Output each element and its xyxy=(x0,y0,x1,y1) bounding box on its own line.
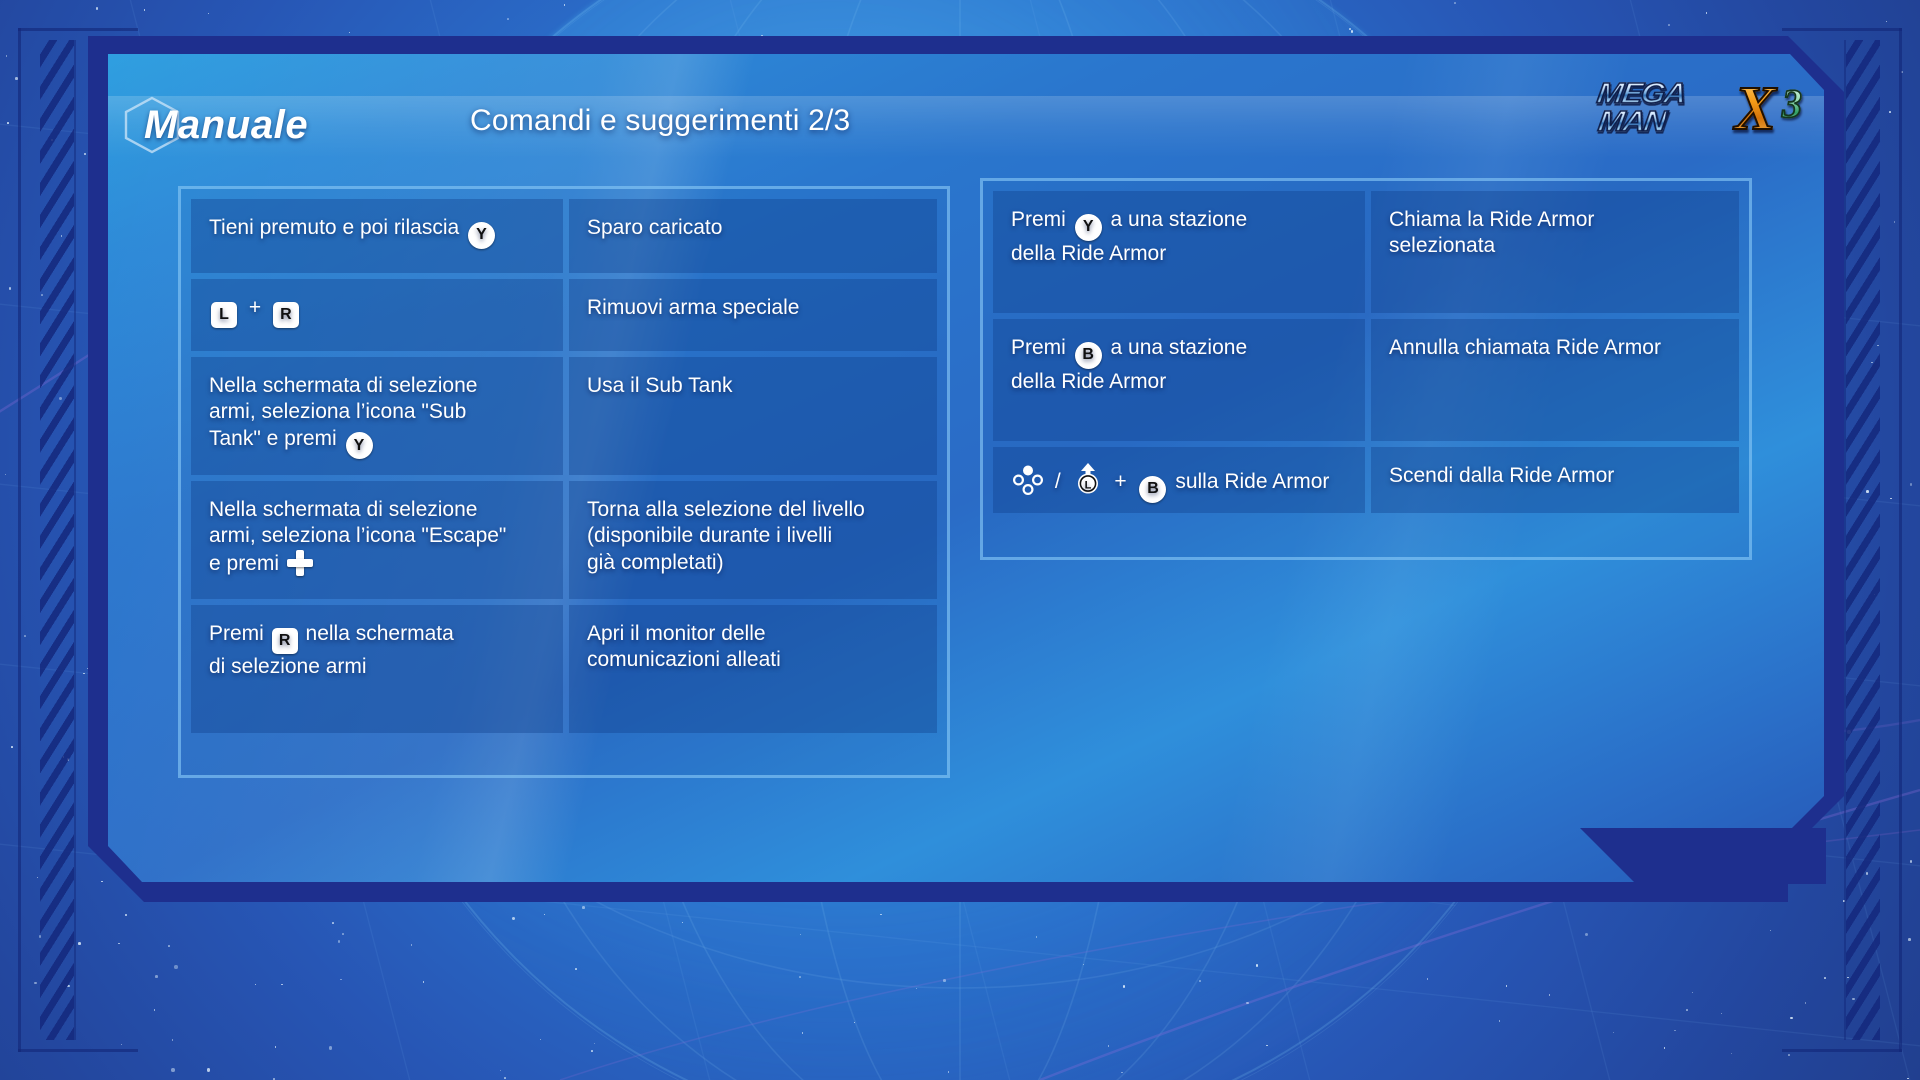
logo-three-text: 3 xyxy=(1782,80,1802,127)
effect-cell: Scendi dalla Ride Armor xyxy=(1371,447,1739,513)
effect-text: Sparo caricato xyxy=(587,215,919,241)
edge-line-topleft xyxy=(18,28,138,31)
effect-text-line2: selezionata xyxy=(1389,233,1721,259)
effect-cell: Usa il Sub Tank xyxy=(569,357,937,475)
header-band xyxy=(108,96,1824,158)
effect-cell: Torna alla selezione del livello (dispon… xyxy=(569,481,937,599)
hatch-edge-right xyxy=(1844,40,1846,1040)
button-y-icon: Y xyxy=(1075,214,1102,241)
command-text-line3: Tank" e premi xyxy=(209,427,337,450)
button-l-icon: L xyxy=(211,302,237,328)
hatch-strip-right xyxy=(1846,40,1880,1040)
table-row: Nella schermata di selezione armi, selez… xyxy=(191,481,937,599)
hatch-edge-left xyxy=(74,40,76,1040)
command-text-line1: Premi xyxy=(209,622,264,645)
command-cell: / L + B sulla Ride Armor xyxy=(993,447,1365,513)
command-cell: Nella schermata di selezione armi, selez… xyxy=(191,481,563,599)
commands-table-right: Premi Y a una stazione della Ride Armor … xyxy=(980,178,1752,560)
mega-man-x3-logo: MEGA MAN X 3 xyxy=(1602,76,1802,150)
effect-text-line2: (disponibile durante i livelli xyxy=(587,523,919,549)
command-text-line1b: a una stazione xyxy=(1111,208,1248,231)
command-text-line2: della Ride Armor xyxy=(1011,369,1347,395)
button-y-icon: Y xyxy=(346,432,373,459)
command-text-line1: Premi xyxy=(1011,208,1066,231)
command-text-line1: Nella schermata di selezione xyxy=(209,373,545,399)
effect-cell: Annulla chiamata Ride Armor xyxy=(1371,319,1739,441)
edge-line-right xyxy=(1899,28,1902,1052)
button-b-icon: B xyxy=(1139,476,1166,503)
command-text-line2: della Ride Armor xyxy=(1011,241,1347,267)
button-y-icon: Y xyxy=(468,222,495,249)
command-cell: Tieni premuto e poi rilascia Y xyxy=(191,199,563,273)
command-text: Tieni premuto e poi rilascia xyxy=(209,216,459,239)
command-cell: L + R xyxy=(191,279,563,351)
table-row: Premi Y a una stazione della Ride Armor … xyxy=(993,191,1739,313)
edge-line-bottomleft xyxy=(18,1049,138,1052)
effect-cell: Apri il monitor delle comunicazioni alle… xyxy=(569,605,937,733)
table-row: Tieni premuto e poi rilascia Y Sparo car… xyxy=(191,199,937,273)
command-text: sulla Ride Armor xyxy=(1175,470,1329,493)
command-text-line1: Nella schermata di selezione xyxy=(209,497,545,523)
command-cell: Premi Y a una stazione della Ride Armor xyxy=(993,191,1365,313)
svg-text:L: L xyxy=(1084,479,1091,491)
left-stick-up-icon: L xyxy=(1073,463,1103,495)
effect-cell: Sparo caricato xyxy=(569,199,937,273)
manual-label: Manuale xyxy=(140,103,308,148)
command-text-line1b: a una stazione xyxy=(1111,336,1248,359)
plus-sign: + xyxy=(249,296,261,319)
command-text-line1: Premi xyxy=(1011,336,1066,359)
command-text-line1b: nella schermata xyxy=(306,622,454,645)
effect-text-line1: Torna alla selezione del livello xyxy=(587,497,919,523)
effect-text: Rimuovi arma speciale xyxy=(587,295,919,321)
edge-line-topright xyxy=(1782,28,1902,31)
effect-text-line1: Chiama la Ride Armor xyxy=(1389,207,1721,233)
effect-text: Scendi dalla Ride Armor xyxy=(1389,463,1721,489)
table-row: Premi B a una stazione della Ride Armor … xyxy=(993,319,1739,441)
plus-sign: + xyxy=(1114,470,1126,493)
hatch-strip-left xyxy=(40,40,74,1040)
edge-line-left xyxy=(18,28,21,1052)
command-cell: Nella schermata di selezione armi, selez… xyxy=(191,357,563,475)
page-title: Comandi e suggerimenti 2/3 xyxy=(470,104,850,138)
dpad-cluster-icon xyxy=(1013,465,1043,495)
command-cell: Premi B a una stazione della Ride Armor xyxy=(993,319,1365,441)
command-text-line2: di selezione armi xyxy=(209,654,545,680)
dpad-plus-icon xyxy=(287,550,313,576)
table-row: L + R Rimuovi arma speciale xyxy=(191,279,937,351)
edge-line-bottomright xyxy=(1782,1049,1902,1052)
commands-table-left: Tieni premuto e poi rilascia Y Sparo car… xyxy=(178,186,950,778)
logo-man-text: MAN xyxy=(1596,106,1667,138)
effect-cell: Chiama la Ride Armor selezionata xyxy=(1371,191,1739,313)
effect-cell: Rimuovi arma speciale xyxy=(569,279,937,351)
command-text-line3: e premi xyxy=(209,552,279,575)
effect-text-line1: Apri il monitor delle xyxy=(587,621,919,647)
effect-text-line2: comunicazioni alleati xyxy=(587,647,919,673)
separator-slash: / xyxy=(1055,470,1061,493)
button-r-icon: R xyxy=(273,302,299,328)
logo-x-text: X xyxy=(1735,74,1776,145)
button-b-icon: B xyxy=(1075,342,1102,369)
command-cell: Premi R nella schermata di selezione arm… xyxy=(191,605,563,733)
button-r-icon: R xyxy=(272,628,298,654)
command-text-line2: armi, seleziona l’icona "Sub xyxy=(209,399,545,425)
table-row: Premi R nella schermata di selezione arm… xyxy=(191,605,937,733)
table-row: Nella schermata di selezione armi, selez… xyxy=(191,357,937,475)
command-text-line2: armi, seleziona l’icona "Escape" xyxy=(209,523,545,549)
effect-text: Usa il Sub Tank xyxy=(587,373,919,399)
table-row: / L + B sulla Ride Armor Scendi dalla Ri… xyxy=(993,447,1739,513)
effect-text-line3: già completati) xyxy=(587,550,919,576)
manual-badge: Manuale xyxy=(140,92,308,158)
effect-text: Annulla chiamata Ride Armor xyxy=(1389,335,1721,361)
